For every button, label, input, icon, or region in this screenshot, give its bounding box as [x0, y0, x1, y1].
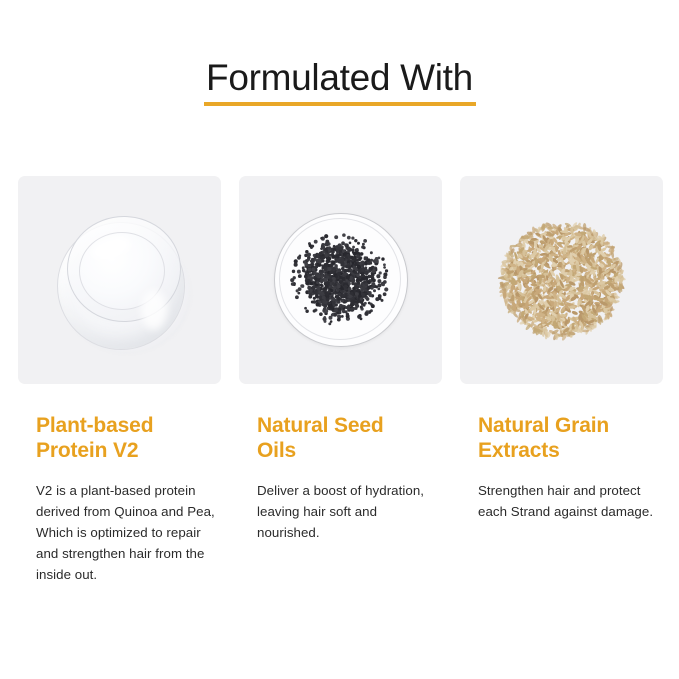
feature-body-3: Strengthen hair and protect each Strand …: [478, 480, 662, 522]
grain-pile-graphic: [491, 215, 633, 345]
title-underline-rule: [204, 102, 476, 106]
page-title: Formulated With: [206, 58, 473, 98]
feature-columns: Plant-based Protein V2 V2 is a plant-bas…: [18, 176, 662, 585]
feature-column-natural-seed-oils: Natural Seed Oils Deliver a boost of hyd…: [239, 176, 442, 585]
feature-body-1: V2 is a plant-based protein derived from…: [36, 480, 222, 585]
image-card-plant-based-protein: [18, 176, 221, 384]
page-title-block: Formulated With: [0, 58, 679, 106]
feature-column-plant-based-protein: Plant-based Protein V2 V2 is a plant-bas…: [18, 176, 221, 585]
feature-body-2: Deliver a boost of hydration, leaving ha…: [257, 480, 437, 543]
clear-gel-bowl-image: [18, 176, 221, 384]
seed-cluster-graphic: [274, 213, 408, 347]
image-card-natural-grain-extracts: [460, 176, 663, 384]
wheat-grain-pile-image: [460, 176, 663, 384]
feature-column-natural-grain-extracts: Natural Grain Extracts Strengthen hair a…: [460, 176, 663, 585]
feature-heading-2: Natural Seed Oils: [257, 413, 442, 463]
image-card-natural-seed-oils: [239, 176, 442, 384]
feature-heading-1: Plant-based Protein V2: [36, 413, 221, 463]
black-seeds-petri-dish-image: [239, 176, 442, 384]
feature-heading-3: Natural Grain Extracts: [478, 413, 663, 463]
